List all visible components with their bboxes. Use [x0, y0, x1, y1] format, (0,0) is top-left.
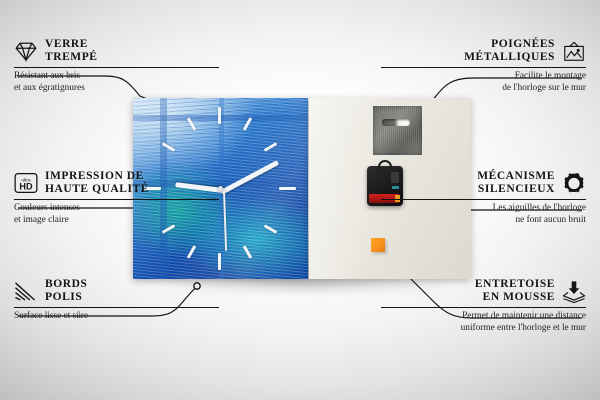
feature-desc-line2: et aux égratignures	[14, 83, 219, 94]
foam-spacer	[371, 238, 385, 252]
feature-title-line2: HAUTE QUALITÉ	[45, 183, 149, 196]
foam-spacer-arrow-icon	[562, 279, 586, 303]
feature-entretoise-en-mousse: ENTRETOISE EN MOUSSE Permet de maintenir…	[381, 278, 586, 334]
feature-rule	[14, 67, 219, 68]
hour-tick	[279, 187, 296, 190]
feature-desc-line2: de l'horloge sur le mur	[381, 83, 586, 94]
feature-rule	[381, 307, 586, 308]
feature-title-line1: POIGNÉES	[464, 38, 555, 51]
feature-rule	[381, 199, 586, 200]
feature-rule	[14, 199, 219, 200]
feature-desc-line1: Permet de maintenir une distance	[381, 311, 586, 322]
feature-verre-trempe: VERRE TREMPÉ Résistant aux bris et aux é…	[14, 38, 219, 94]
ultra-hd-icon: ultra HD	[14, 171, 38, 195]
hour-tick	[218, 107, 221, 124]
hanger-slot	[382, 119, 410, 126]
feature-title-line1: VERRE	[45, 38, 98, 51]
feature-title-line2: MÉTALLIQUES	[464, 51, 555, 64]
feature-desc-line1: Les aiguilles de l'horloge	[381, 203, 586, 214]
feature-title-line2: EN MOUSSE	[475, 291, 555, 304]
feature-title-line1: ENTRETOISE	[475, 278, 555, 291]
hour-tick	[218, 253, 221, 270]
diamond-icon	[14, 39, 38, 63]
picture-frame-hanging-icon	[562, 39, 586, 63]
feature-title-line2: SILENCIEUX	[477, 183, 555, 196]
metal-hanger	[373, 106, 422, 155]
feature-desc-line2: et image claire	[14, 215, 219, 226]
mechanism-hanging-loop	[378, 160, 392, 170]
feature-desc-line2: uniforme entre l'horloge et le mur	[381, 323, 586, 334]
feature-impression-haute-qualite: ultra HD IMPRESSION DE HAUTE QUALITÉ Cou…	[14, 170, 219, 226]
feature-title-line1: IMPRESSION DE	[45, 170, 149, 183]
feature-bords-polis: BORDS POLIS Surface lisse et sûre	[14, 278, 219, 323]
gear-icon	[562, 171, 586, 195]
feature-rule	[14, 307, 219, 308]
feature-title-line2: TREMPÉ	[45, 51, 98, 64]
feature-mecanisme-silencieux: MÉCANISME SILENCIEUX Les aiguilles de l'…	[381, 170, 586, 226]
feature-title-line2: POLIS	[45, 291, 87, 304]
polished-edge-icon	[14, 279, 38, 303]
feature-desc-line1: Couleurs intenses	[14, 203, 219, 214]
svg-text:HD: HD	[19, 182, 33, 192]
feature-rule	[381, 67, 586, 68]
feature-desc-line1: Facilite le montage	[381, 71, 586, 82]
feature-title-line1: MÉCANISME	[477, 170, 555, 183]
feature-desc-line1: Résistant aux bris	[14, 71, 219, 82]
feature-poignees-metalliques: POIGNÉES MÉTALLIQUES Facilite le montage…	[381, 38, 586, 94]
feature-title-line1: BORDS	[45, 278, 87, 291]
feature-desc-line1: Surface lisse et sûre	[14, 311, 219, 322]
feature-desc-line2: ne font aucun bruit	[381, 215, 586, 226]
